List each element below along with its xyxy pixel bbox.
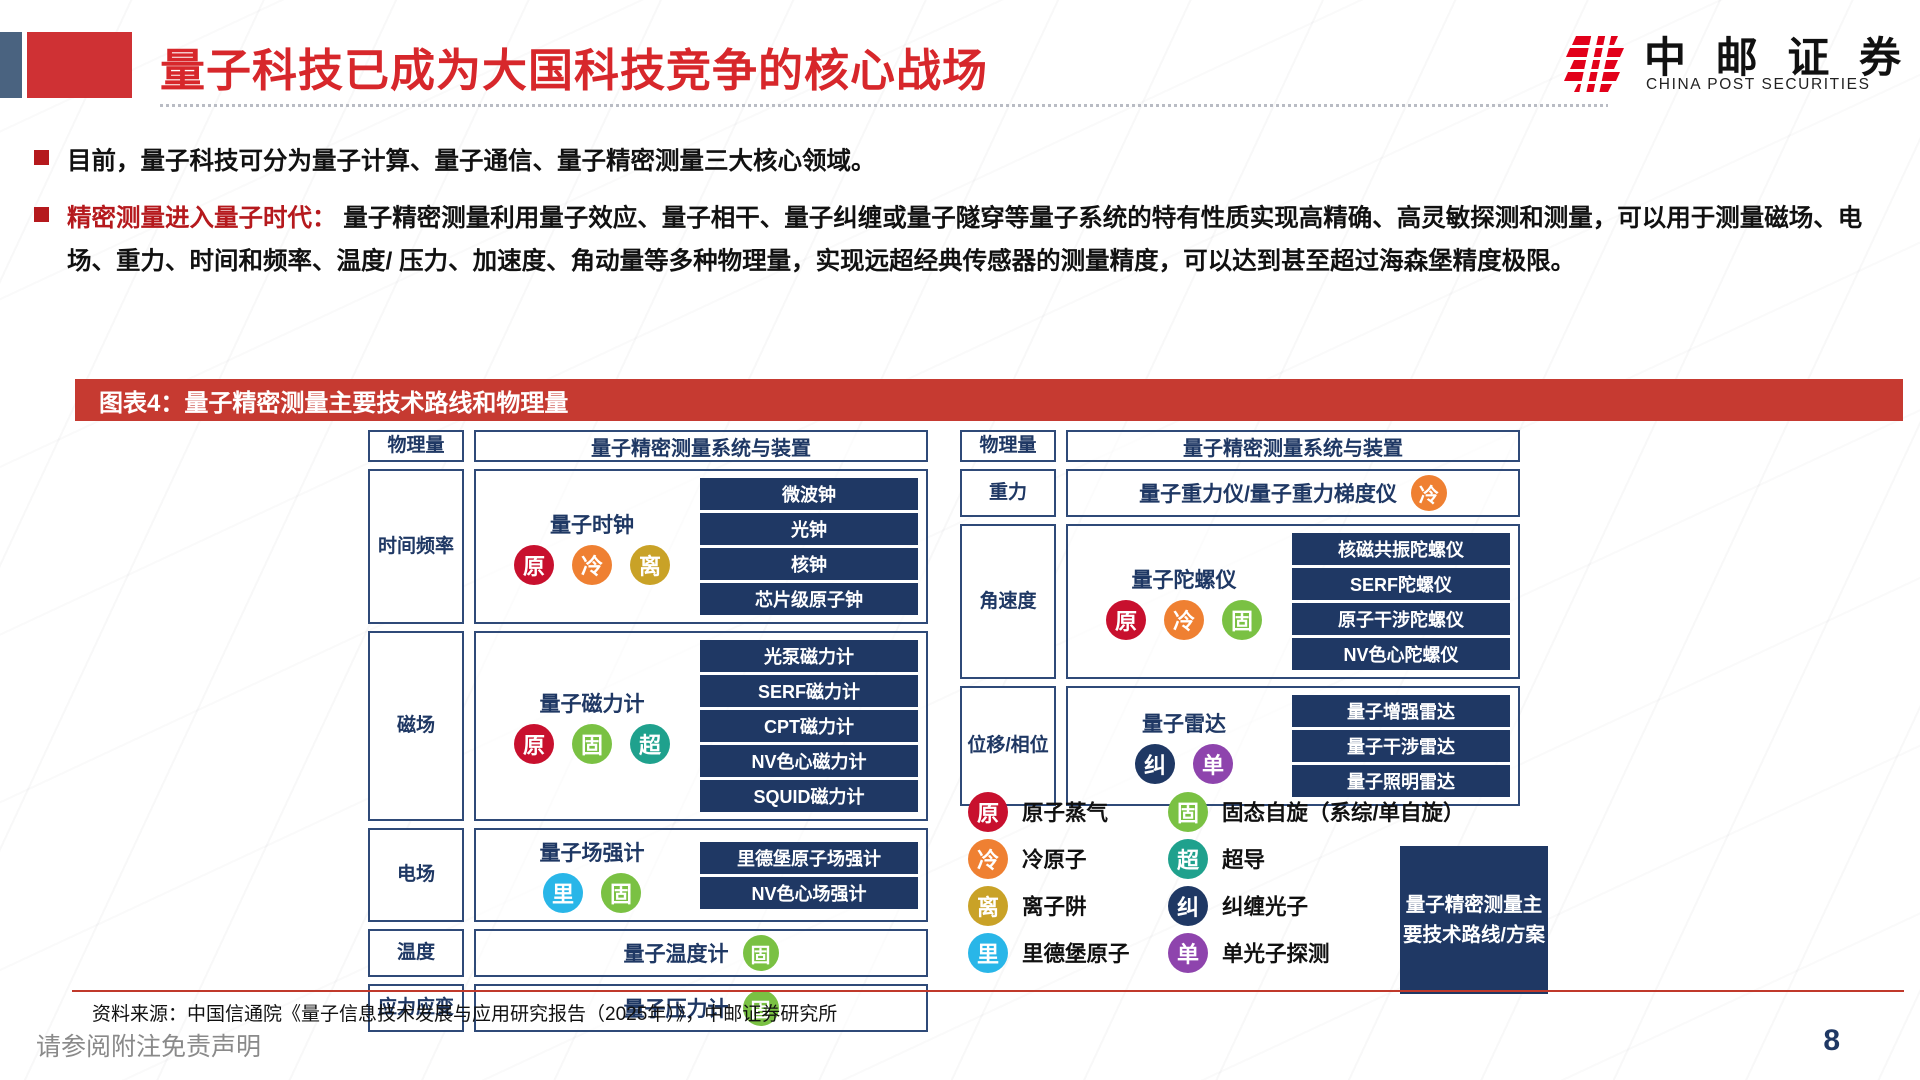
bullet-list: 目前，量子科技可分为量子计算、量子通信、量子精密测量三大核心领域。 精密测量进入…	[34, 140, 1894, 297]
technology-chip: NV色心陀螺仪	[1292, 638, 1510, 670]
badge-li2: 里	[543, 873, 583, 913]
page-title: 量子科技已成为大国科技竞争的核心战场	[160, 30, 1280, 102]
column-header-quantity: 物理量	[960, 430, 1056, 462]
diagram-row: 时间频率量子时钟原冷离微波钟光钟核钟芯片级原子钟	[368, 469, 928, 624]
bullet-run: 、	[410, 148, 435, 175]
bullet-text: 目前，量子科技可分为量子计算、量子通信、量子精密测量三大核心领域。	[67, 140, 876, 183]
badge-group: 原冷固	[1106, 600, 1262, 640]
bullet-marker-icon	[34, 207, 49, 222]
physical-quantity-cell: 电场	[368, 828, 464, 922]
badge-gu: 固	[601, 873, 641, 913]
technology-chip-list: 微波钟光钟核钟芯片级原子钟	[700, 478, 918, 615]
technology-chip-list: 核磁共振陀螺仪SERF陀螺仪原子干涉陀螺仪NV色心陀螺仪	[1292, 533, 1510, 670]
bullet-run: 量子通信	[435, 148, 533, 175]
legend-label: 单光子探测	[1222, 937, 1330, 968]
header-accent-blue-bar	[0, 32, 22, 98]
column-header-quantity: 物理量	[368, 430, 464, 462]
technology-chip: 光钟	[700, 513, 918, 545]
legend-summary-box: 量子精密测量主要技术路线/方案	[1400, 846, 1548, 994]
physical-quantity-cell: 磁场	[368, 631, 464, 821]
badge-gu: 固	[1168, 792, 1208, 832]
system-cell: 量子场强计里固里德堡原子场强计NV色心场强计	[474, 828, 928, 922]
legend-item: 固固态自旋（系综/单自旋）	[1168, 788, 1464, 835]
source-divider	[72, 990, 1904, 992]
badge-jiu: 纠	[1168, 886, 1208, 926]
logo-text-en: CHINA POST SECURITIES	[1646, 76, 1871, 94]
bullet-run: 、	[533, 148, 558, 175]
diagram-header-row: 物理量量子精密测量系统与装置	[368, 430, 928, 462]
system-cell: 量子重力仪/量子重力梯度仪冷	[1066, 469, 1520, 517]
diagram-row: 温度量子温度计固	[368, 929, 928, 977]
badge-yuan: 原	[514, 724, 554, 764]
legend-item: 冷冷原子	[968, 835, 1130, 882]
diagram-row: 磁场量子磁力计原固超光泵磁力计SERF磁力计CPT磁力计NV色心磁力计SQUID…	[368, 631, 928, 821]
group-name: 量子场强计	[540, 837, 645, 867]
legend-column-1: 原原子蒸气冷冷原子离离子阱里里德堡原子	[968, 788, 1130, 976]
group-name: 量子陀螺仪	[1132, 564, 1237, 594]
physical-quantity-cell: 温度	[368, 929, 464, 977]
bullet-run: 量子精密测量	[557, 148, 704, 175]
technology-chip: 芯片级原子钟	[700, 583, 918, 615]
physical-quantity-cell: 重力	[960, 469, 1056, 517]
exhibit-title: 图表4：量子精密测量主要技术路线和物理量	[75, 379, 1903, 421]
badge-yuan: 原	[968, 792, 1008, 832]
group-name: 量子磁力计	[540, 688, 645, 718]
company-logo: 中 邮 证 券 CHINA POST SECURITIES	[1562, 22, 1872, 102]
legend-label: 离子阱	[1022, 890, 1087, 921]
badge-leng: 冷	[572, 545, 612, 585]
badge-chao: 超	[1168, 839, 1208, 879]
technology-chip: SQUID磁力计	[700, 780, 918, 812]
technology-chip-list: 量子增强雷达量子干涉雷达量子照明雷达	[1292, 695, 1510, 797]
header-accent-red-block	[27, 32, 132, 98]
legend-label: 里德堡原子	[1022, 937, 1130, 968]
badge-gu: 固	[1222, 600, 1262, 640]
bullet-run: 三大核心领域。	[704, 148, 876, 175]
badge-leng: 冷	[968, 839, 1008, 879]
badge-gu: 固	[743, 935, 779, 971]
legend-label: 纠缠光子	[1222, 890, 1308, 921]
system-cell: 量子陀螺仪原冷固核磁共振陀螺仪SERF陀螺仪原子干涉陀螺仪NV色心陀螺仪	[1066, 524, 1520, 679]
badge-li: 离	[630, 545, 670, 585]
system-cell: 量子温度计固	[474, 929, 928, 977]
technology-chip: SERF磁力计	[700, 675, 918, 707]
diagram-row: 角速度量子陀螺仪原冷固核磁共振陀螺仪SERF陀螺仪原子干涉陀螺仪NV色心陀螺仪	[960, 524, 1520, 679]
group-name: 量子温度计	[624, 938, 729, 968]
bullet-item: 精密测量进入量子时代： 量子精密测量利用量子效应、量子相干、量子纠缠或量子隧穿等…	[34, 197, 1894, 283]
diagram-row: 电场量子场强计里固里德堡原子场强计NV色心场强计	[368, 828, 928, 922]
group-block: 量子时钟原冷离	[484, 509, 700, 585]
technology-chip-list: 里德堡原子场强计NV色心场强计	[700, 842, 918, 909]
technology-chip: NV色心磁力计	[700, 745, 918, 777]
bullet-run: 量子计算	[312, 148, 410, 175]
disclaimer-text: 请参阅附注免责声明	[36, 1027, 261, 1063]
legend-item: 里里德堡原子	[968, 929, 1130, 976]
badge-dan: 单	[1168, 933, 1208, 973]
badge-jiu: 纠	[1135, 744, 1175, 784]
system-cell: 量子时钟原冷离微波钟光钟核钟芯片级原子钟	[474, 469, 928, 624]
technology-chip: 微波钟	[700, 478, 918, 510]
physical-quantity-cell: 时间频率	[368, 469, 464, 624]
group-name: 量子雷达	[1142, 708, 1226, 738]
technology-chip-list: 光泵磁力计SERF磁力计CPT磁力计NV色心磁力计SQUID磁力计	[700, 640, 918, 812]
column-header-system: 量子精密测量系统与装置	[474, 430, 928, 462]
bullet-item: 目前，量子科技可分为量子计算、量子通信、量子精密测量三大核心领域。	[34, 140, 1894, 183]
bullet-marker-icon	[34, 150, 49, 165]
legend-label: 原子蒸气	[1022, 796, 1108, 827]
technology-chip: 量子增强雷达	[1292, 695, 1510, 727]
legend-label: 超导	[1222, 843, 1265, 874]
legend-item: 离离子阱	[968, 882, 1130, 929]
legend: 原原子蒸气冷冷原子离离子阱里里德堡原子 固固态自旋（系综/单自旋）超超导纠纠缠光…	[968, 788, 1528, 1003]
page-number: 8	[1823, 1024, 1840, 1058]
legend-label: 冷原子	[1022, 843, 1087, 874]
physical-quantity-cell: 角速度	[960, 524, 1056, 679]
badge-chao: 超	[630, 724, 670, 764]
badge-yuan: 原	[1106, 600, 1146, 640]
system-cell: 量子磁力计原固超光泵磁力计SERF磁力计CPT磁力计NV色心磁力计SQUID磁力…	[474, 631, 928, 821]
bullet-text: 精密测量进入量子时代： 量子精密测量利用量子效应、量子相干、量子纠缠或量子隧穿等…	[67, 197, 1894, 283]
badge-leng: 冷	[1164, 600, 1204, 640]
badge-group: 里固	[543, 873, 641, 913]
group-block: 量子雷达纠单	[1076, 708, 1292, 784]
group-block: 量子场强计里固	[484, 837, 700, 913]
bullet-run: 精密测量进入量子时代：	[67, 205, 337, 232]
diagram-column-right: 物理量量子精密测量系统与装置重力量子重力仪/量子重力梯度仪冷角速度量子陀螺仪原冷…	[960, 430, 1520, 813]
badge-gu: 固	[572, 724, 612, 764]
source-note: 资料来源：中国信通院《量子信息技术发展与应用研究报告（2025年）》，中邮证券研…	[92, 999, 837, 1026]
group-name: 量子重力仪/量子重力梯度仪	[1139, 478, 1397, 508]
badge-group: 纠单	[1135, 744, 1233, 784]
badge-yuan: 原	[514, 545, 554, 585]
diagram-row: 重力量子重力仪/量子重力梯度仪冷	[960, 469, 1520, 517]
legend-label: 固态自旋（系综/单自旋）	[1222, 796, 1464, 827]
column-header-system: 量子精密测量系统与装置	[1066, 430, 1520, 462]
badge-group: 原固超	[514, 724, 670, 764]
technology-chip: 里德堡原子场强计	[700, 842, 918, 874]
technology-chip: NV色心场强计	[700, 877, 918, 909]
badge-leng: 冷	[1411, 475, 1447, 511]
diagram-header-row: 物理量量子精密测量系统与装置	[960, 430, 1520, 462]
technology-chip: CPT磁力计	[700, 710, 918, 742]
technology-chip: 量子干涉雷达	[1292, 730, 1510, 762]
slide: 量子科技已成为大国科技竞争的核心战场 中 邮 证 券 CHINA POST SE…	[0, 0, 1920, 1080]
group-block: 量子陀螺仪原冷固	[1076, 564, 1292, 640]
badge-group: 原冷离	[514, 545, 670, 585]
header-divider	[160, 104, 1608, 107]
technology-chip: 核钟	[700, 548, 918, 580]
bullet-run: 目前，量子科技可分为	[67, 148, 312, 175]
china-post-logo-icon	[1562, 28, 1632, 94]
technology-chip: 光泵磁力计	[700, 640, 918, 672]
group-block: 量子磁力计原固超	[484, 688, 700, 764]
bullet-run: 量子精密测量利用量子效应、量子相干、量子纠缠或量子隧穿等量子系统的特有性质实现高…	[67, 205, 1862, 275]
badge-dan: 单	[1193, 744, 1233, 784]
badge-li: 离	[968, 886, 1008, 926]
technology-chip: SERF陀螺仪	[1292, 568, 1510, 600]
group-name: 量子时钟	[550, 509, 634, 539]
technology-chip: 核磁共振陀螺仪	[1292, 533, 1510, 565]
legend-item: 原原子蒸气	[968, 788, 1130, 835]
badge-li2: 里	[968, 933, 1008, 973]
technology-chip: 原子干涉陀螺仪	[1292, 603, 1510, 635]
diagram-column-left: 物理量量子精密测量系统与装置时间频率量子时钟原冷离微波钟光钟核钟芯片级原子钟磁场…	[368, 430, 928, 1039]
